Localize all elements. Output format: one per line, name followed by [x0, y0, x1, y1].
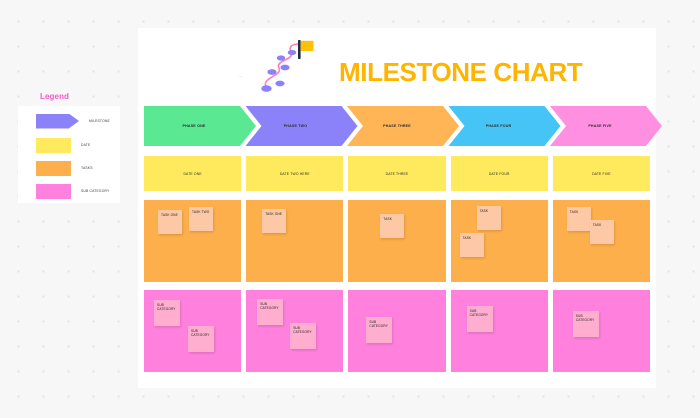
phase-chevron-5[interactable]: PHASE FIVE	[550, 106, 662, 146]
corner-mark: ...	[239, 73, 242, 78]
phase-chevron-2[interactable]: PHASE TWO	[246, 106, 358, 146]
task-sticky-note[interactable]: TASK	[567, 207, 591, 231]
sticky-note-label: TASK	[570, 210, 589, 214]
date-label: DATE THREE	[386, 172, 409, 176]
milestone-path-icon	[253, 38, 348, 96]
subcategory-panel[interactable]: SUB CATEGORYSUB CATEGORY	[144, 290, 241, 372]
task-sticky-note[interactable]: TASK	[590, 220, 614, 244]
subcategory-sticky-note[interactable]: SUB CATEGORY	[290, 323, 316, 349]
title-block: ... MILESTONE CHART	[193, 33, 613, 95]
sticky-note-label: TASK ONE	[161, 213, 180, 217]
phase-label: PHASE FOUR	[486, 124, 512, 128]
date-cell[interactable]: DATE FOUR	[451, 156, 548, 191]
task-panel[interactable]: TASK ONETASK TWO	[144, 200, 241, 282]
date-cell[interactable]: DATE THREE	[348, 156, 445, 191]
legend-item: MILESTONE	[36, 112, 110, 130]
sticky-note-label: SUB CATEGORY	[157, 303, 178, 311]
legend-title: Legend	[40, 92, 69, 101]
subcategory-sticky-note[interactable]: SUB CATEGORY	[366, 317, 392, 343]
legend-swatch-date	[36, 138, 71, 153]
task-panel[interactable]: TASKTASK	[451, 200, 548, 282]
task-sticky-note[interactable]: TASK	[460, 233, 484, 257]
legend-item: DATE	[36, 136, 90, 154]
task-panel[interactable]: TASK	[348, 200, 445, 282]
subcategory-sticky-note[interactable]: SUB CATEGORY	[257, 299, 283, 325]
phase-label: PHASE FIVE	[588, 124, 611, 128]
date-cell[interactable]: DATE ONE	[144, 156, 241, 191]
task-sticky-note[interactable]: TASK TWO	[189, 207, 213, 231]
legend-label: TASKS	[81, 166, 93, 170]
subcategory-panel[interactable]: SUB CATEGORY	[348, 290, 445, 372]
legend-label: SUB CATEGORY	[81, 189, 109, 193]
legend-swatch-tasks	[36, 161, 71, 176]
sticky-note-label: TASK	[480, 209, 499, 213]
sticky-note-label: SUB CATEGORY	[576, 314, 597, 322]
date-cell[interactable]: DATE FIVE	[553, 156, 650, 191]
date-label: DATE FIVE	[592, 172, 611, 176]
subcategory-sticky-note[interactable]: SUB CATEGORY	[154, 300, 180, 326]
phase-row: PHASE ONE PHASE TWO PHASE THREE PHASE FO…	[144, 106, 650, 146]
task-panel[interactable]: TASK ONE	[246, 200, 343, 282]
sticky-note-label: TASK	[463, 236, 482, 240]
task-sticky-note[interactable]: TASK	[477, 206, 501, 230]
phase-label: PHASE TWO	[284, 124, 308, 128]
sticky-note-label: SUB CATEGORY	[191, 329, 212, 337]
subcategory-panel[interactable]: SUB CATEGORY	[451, 290, 548, 372]
task-row: TASK ONETASK TWOTASK ONETASKTASKTASKTASK…	[144, 200, 650, 282]
legend-swatch-subcategory	[36, 184, 71, 199]
legend-label: MILESTONE	[89, 119, 110, 123]
subcategory-panel[interactable]: SUB CATEGORYSUB CATEGORY	[246, 290, 343, 372]
sticky-note-label: TASK TWO	[192, 210, 211, 214]
subcategory-panel[interactable]: SUB CATEGORY	[553, 290, 650, 372]
legend-swatch-milestone	[36, 114, 79, 129]
task-sticky-note[interactable]: TASK ONE	[262, 209, 286, 233]
legend-label: DATE	[81, 143, 90, 147]
task-sticky-note[interactable]: TASK ONE	[158, 210, 182, 234]
sticky-note-label: SUB CATEGORY	[470, 309, 491, 317]
subcategory-sticky-note[interactable]: SUB CATEGORY	[188, 326, 214, 352]
date-cell[interactable]: DATE TWO HERE	[246, 156, 343, 191]
sticky-note-label: TASK	[383, 217, 402, 221]
date-label: DATE TWO HERE	[280, 172, 310, 176]
legend-panel: MILESTONE DATE TASKS SUB CATEGORY	[18, 106, 120, 203]
subcategory-row: SUB CATEGORYSUB CATEGORYSUB CATEGORYSUB …	[144, 290, 650, 372]
date-label: DATE ONE	[183, 172, 201, 176]
date-label: DATE FOUR	[489, 172, 510, 176]
board-canvas: ... MILESTONE CHART PHASE ONE PHASE TWO …	[138, 28, 656, 388]
date-row: DATE ONE DATE TWO HERE DATE THREE DATE F…	[144, 156, 650, 191]
sticky-note-label: SUB CATEGORY	[369, 320, 390, 328]
sticky-note-label: TASK ONE	[265, 212, 284, 216]
phase-label: PHASE ONE	[183, 124, 206, 128]
subcategory-sticky-note[interactable]: SUB CATEGORY	[573, 311, 599, 337]
legend-item: TASKS	[36, 159, 93, 177]
task-panel[interactable]: TASKTASK	[553, 200, 650, 282]
sticky-note-label: TASK	[593, 223, 612, 227]
sticky-note-label: SUB CATEGORY	[260, 302, 281, 310]
phase-chevron-3[interactable]: PHASE THREE	[347, 106, 459, 146]
page-title: MILESTONE CHART	[339, 57, 582, 88]
sticky-note-label: SUB CATEGORY	[293, 326, 314, 334]
phase-chevron-1[interactable]: PHASE ONE	[144, 106, 256, 146]
phase-chevron-4[interactable]: PHASE FOUR	[449, 106, 561, 146]
task-sticky-note[interactable]: TASK	[380, 214, 404, 238]
subcategory-sticky-note[interactable]: SUB CATEGORY	[467, 306, 493, 332]
legend-item: SUB CATEGORY	[36, 182, 109, 200]
phase-label: PHASE THREE	[383, 124, 411, 128]
